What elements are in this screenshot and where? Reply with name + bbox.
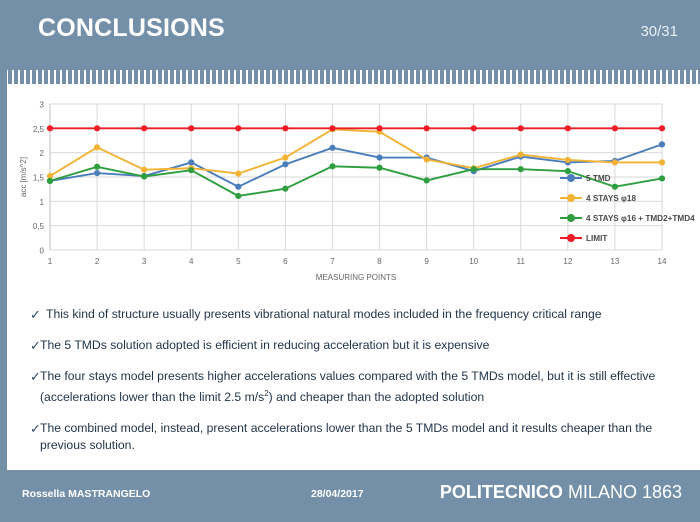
legend-item-0[interactable]: 5 TMD [560, 168, 698, 188]
legend-marker-icon [560, 172, 582, 184]
bullet-item-0: ✓This kind of structure usually presents… [14, 306, 686, 323]
svg-text:2,5: 2,5 [33, 125, 45, 134]
left-accent-strip [0, 0, 7, 522]
legend-label: LIMIT [586, 234, 607, 243]
legend-marker-icon [560, 232, 582, 244]
check-icon: ✓ [14, 420, 40, 437]
bullet-text: This kind of structure usually presents … [40, 306, 602, 323]
legend-label: 5 TMD [586, 174, 611, 183]
svg-text:6: 6 [283, 257, 288, 266]
svg-text:7: 7 [330, 257, 335, 266]
svg-text:12: 12 [563, 257, 572, 266]
svg-text:0,5: 0,5 [33, 222, 45, 231]
svg-text:2: 2 [95, 257, 100, 266]
legend-marker-icon [560, 212, 582, 224]
bullet-text: The combined model, instead, present acc… [40, 420, 665, 454]
chart-legend: 5 TMD4 STAYS φ184 STAYS φ16 + TMD2+TMD4L… [560, 168, 698, 248]
svg-text:1: 1 [48, 257, 53, 266]
svg-text:4: 4 [189, 257, 194, 266]
check-icon: ✓ [14, 306, 40, 323]
legend-item-1[interactable]: 4 STAYS φ18 [560, 188, 698, 208]
svg-text:MEASURING POINTS: MEASURING POINTS [316, 273, 396, 282]
slide-footer: Rossella MASTRANGELO 28/04/2017 POLITECN… [0, 470, 700, 522]
svg-text:1,5: 1,5 [33, 174, 45, 183]
legend-marker-icon [560, 192, 582, 204]
svg-text:10: 10 [469, 257, 478, 266]
svg-text:11: 11 [517, 257, 526, 266]
legend-item-2[interactable]: 4 STAYS φ16 + TMD2+TMD4 [560, 208, 698, 228]
svg-text:0: 0 [40, 247, 45, 256]
footer-author: Rossella MASTRANGELO [22, 488, 150, 500]
bullet-item-2: ✓The four stays model presents higher ac… [14, 368, 686, 406]
slide: CONCLUSIONS 30/31 00,511,522,53123456789… [0, 0, 700, 522]
page-title: CONCLUSIONS [38, 14, 225, 43]
check-icon: ✓ [14, 337, 40, 354]
conclusions-bullet-list: ✓This kind of structure usually presents… [14, 306, 686, 468]
legend-item-3[interactable]: LIMIT [560, 228, 698, 248]
decorative-comb-band [0, 62, 700, 84]
legend-label: 4 STAYS φ18 [586, 194, 636, 203]
footer-date: 28/04/2017 [311, 488, 364, 500]
svg-text:1: 1 [40, 198, 45, 207]
slide-header: CONCLUSIONS 30/31 [0, 0, 700, 62]
svg-text:8: 8 [377, 257, 382, 266]
footer-brand: POLITECNICO MILANO 1863 [440, 482, 682, 503]
svg-text:9: 9 [424, 257, 429, 266]
brand-light: MILANO 1863 [568, 482, 682, 502]
brand-bold: POLITECNICO [440, 482, 563, 502]
svg-text:3: 3 [142, 257, 147, 266]
svg-text:5: 5 [236, 257, 241, 266]
svg-text:acc [m/s^2]: acc [m/s^2] [19, 157, 28, 197]
bullet-text: The 5 TMDs solution adopted is efficient… [40, 337, 489, 354]
bullet-item-3: ✓The combined model, instead, present ac… [14, 420, 686, 454]
bullet-item-1: ✓The 5 TMDs solution adopted is efficien… [14, 337, 686, 354]
legend-label: 4 STAYS φ16 + TMD2+TMD4 [586, 214, 695, 223]
page-number: 30/31 [640, 23, 678, 40]
bullet-text: The four stays model presents higher acc… [40, 368, 665, 406]
check-icon: ✓ [14, 368, 40, 385]
comb-teeth [0, 70, 700, 84]
svg-text:3: 3 [40, 101, 45, 110]
svg-text:2: 2 [40, 149, 45, 158]
svg-text:13: 13 [610, 257, 619, 266]
svg-text:14: 14 [658, 257, 667, 266]
unit-exponent: 2 [264, 389, 268, 398]
